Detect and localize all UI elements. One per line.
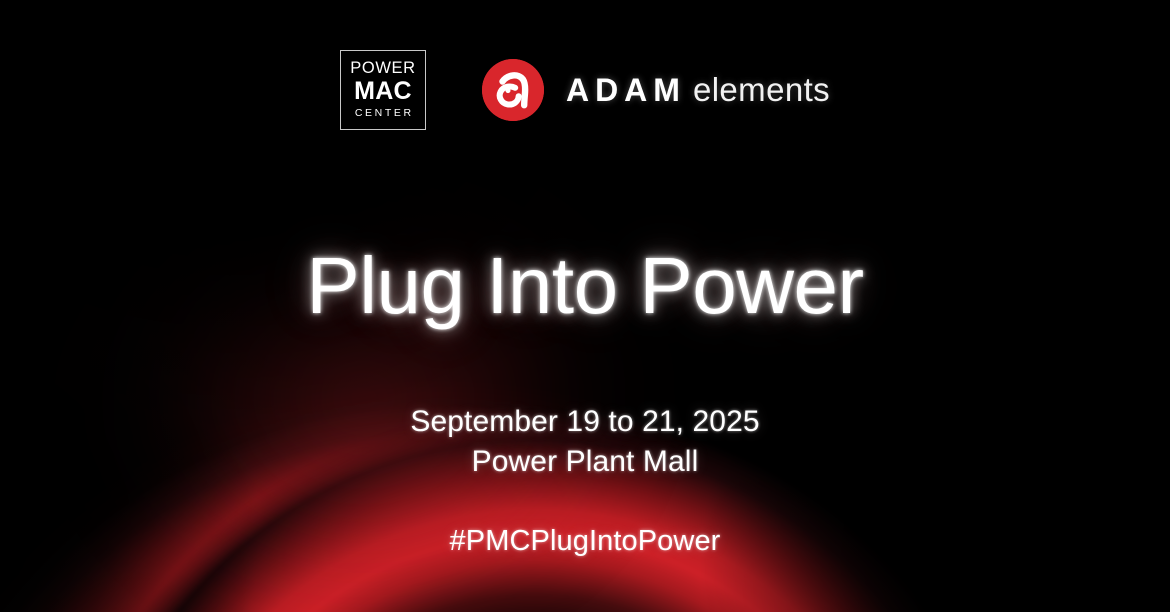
logo-row: POWER MAC CENTER ADAM elements <box>0 50 1170 130</box>
event-venue: Power Plant Mall <box>0 442 1170 482</box>
event-dates: September 19 to 21, 2025 <box>0 402 1170 442</box>
pmc-logo-line-mac: MAC <box>354 78 412 105</box>
event-hashtag: #PMCPlugIntoPower <box>0 525 1170 558</box>
event-details: September 19 to 21, 2025 Power Plant Mal… <box>0 402 1170 481</box>
power-mac-center-logo: POWER MAC CENTER <box>340 50 426 130</box>
promotional-banner: POWER MAC CENTER ADAM elements <box>0 0 1170 612</box>
pmc-logo-line-power: POWER <box>350 60 415 77</box>
adam-elements-logo: ADAM elements <box>482 59 830 121</box>
adam-elements-wordmark: ADAM elements <box>566 71 830 109</box>
adam-a-glyph-icon <box>482 59 544 121</box>
pmc-logo-line-center: CENTER <box>355 108 414 119</box>
banner-content: POWER MAC CENTER ADAM elements <box>0 0 1170 612</box>
adam-word: ADAM <box>566 72 686 109</box>
headline: Plug Into Power <box>0 246 1170 326</box>
elements-word: elements <box>693 71 830 109</box>
